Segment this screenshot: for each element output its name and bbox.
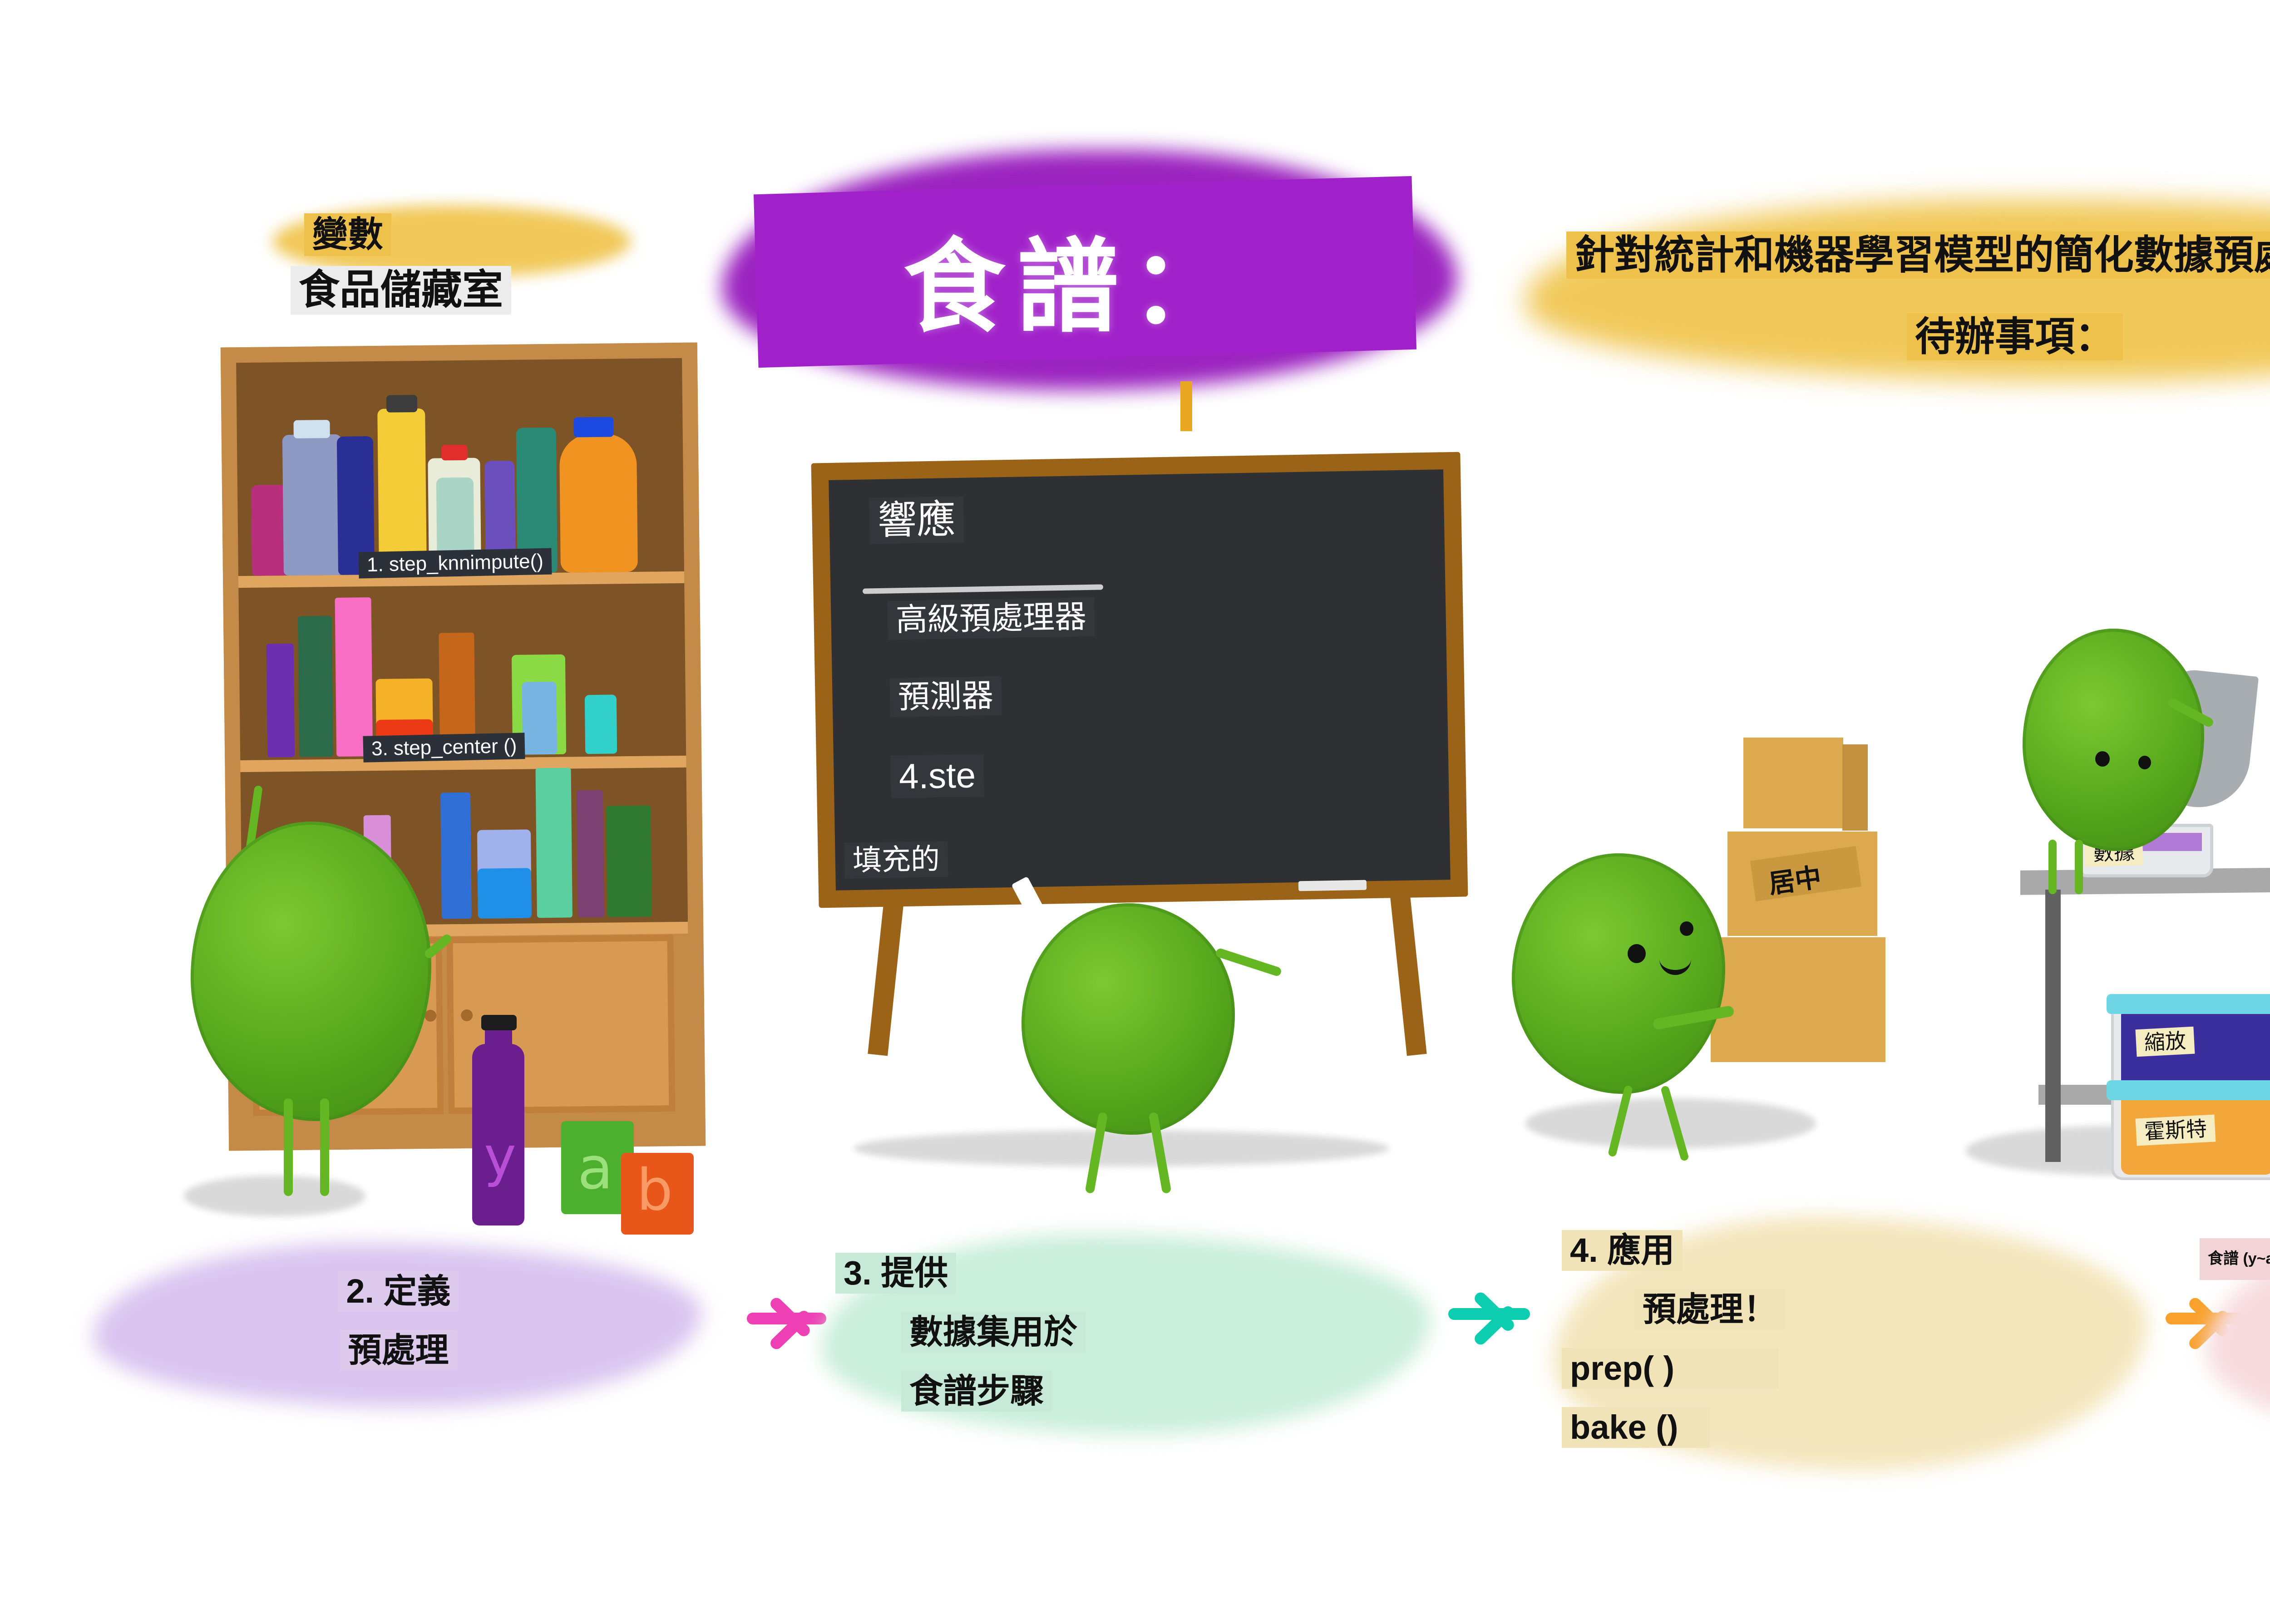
- bottle-y-letter: y: [484, 1126, 516, 1189]
- cap-lightblue: [293, 420, 330, 438]
- pantry-sign-bottom: 食品儲藏室: [291, 266, 511, 315]
- book-darkgreen: [298, 616, 333, 757]
- header-brush-stroke: [1525, 200, 2270, 381]
- tub-scale-label-text: 縮放: [2136, 1027, 2195, 1057]
- bottle-y-cap: [481, 1015, 517, 1030]
- mover-character-body: [1512, 853, 1725, 1094]
- tub-holdout-lid: [2107, 1080, 2270, 1100]
- chalk-heading-text: 響應: [869, 496, 964, 544]
- step3-line-2-text: 數據集用於: [901, 1312, 1086, 1353]
- step4-line-2: 預處理！: [1634, 1289, 1785, 1330]
- book-purple: [266, 644, 295, 758]
- pantry-character-leg-left: [284, 1098, 293, 1196]
- bottle-blue-jug: [282, 434, 343, 576]
- pantry-character-leg-right: [320, 1098, 329, 1196]
- blackboard-leg-left: [868, 891, 904, 1056]
- step5-bake-script: bake(): [2265, 1343, 2270, 1422]
- step2-line-1: 2. 定義: [116, 1271, 681, 1312]
- step4-line-1-text: 4. 應用: [1562, 1230, 1683, 1271]
- box-bottom: [1711, 937, 1885, 1062]
- chalk-line-5: 填充的: [844, 841, 948, 879]
- box-top: [1743, 738, 1843, 828]
- label-knnimpute-text: 1. step_knnimpute(): [358, 548, 552, 579]
- step4-line-3-text: prep( ): [1562, 1348, 1779, 1389]
- label-knnimpute: 1. step_knnimpute(): [358, 548, 552, 579]
- tub-holdout-label-text: 霍斯特: [2136, 1114, 2216, 1146]
- chalk-line-3-text: 預測器: [889, 676, 1002, 717]
- box-top-side: [1842, 744, 1868, 831]
- step3-line-2: 數據集用於: [901, 1312, 1086, 1353]
- chalk-line-4: 4.ste: [890, 754, 984, 798]
- book-green: [606, 806, 652, 917]
- subtitle-line-2: 待辦事項：: [1907, 313, 2123, 360]
- label-center: 3. step_center (): [363, 733, 525, 763]
- step2-line-2: 預處理: [116, 1330, 681, 1371]
- bottle-yellow: [377, 408, 427, 575]
- cabinet-knob-left[interactable]: [424, 1010, 436, 1022]
- mover-eye-right: [1680, 921, 1693, 936]
- step3-line-3: 食譜步驟: [901, 1371, 1052, 1412]
- can-b-letter: b: [637, 1156, 673, 1223]
- step3-line-1: 3. 提供: [835, 1253, 956, 1294]
- bottle-orange: [559, 433, 638, 573]
- cap-blue: [573, 417, 613, 437]
- step4-line-2-text: 預處理！: [1634, 1289, 1785, 1330]
- book-pink: [335, 597, 373, 757]
- step4-line-4: bake (): [1562, 1407, 1710, 1448]
- chalk-line-4-text: 4.ste: [890, 754, 984, 798]
- step5-line-1-text: 食譜 (y~a + b+ ... , data = pantry): [2200, 1238, 2270, 1280]
- mover-eye-left: [1628, 944, 1646, 963]
- chalk-heading: 響應: [869, 496, 964, 544]
- pantry-sign-bottom-text: 食品儲藏室: [291, 266, 511, 315]
- blackboard-leg-right: [1390, 891, 1426, 1056]
- can-blue-band: [522, 682, 558, 755]
- chalk-line-2-text: 高級預處理器: [887, 597, 1095, 640]
- box-label-center: 居中: [1766, 856, 1824, 901]
- step2-line-2-text: 預處理: [340, 1330, 457, 1371]
- pantry-sign-top: 變數: [304, 213, 391, 256]
- book-blue: [440, 792, 472, 919]
- step3-line-1-text: 3. 提供: [835, 1253, 956, 1294]
- baker-eye-left: [2095, 751, 2110, 767]
- baker-character-body: [2023, 629, 2204, 851]
- subtitle-line-1-text: 針對統計和機器學習模型的簡化數據預處理: [1566, 231, 2270, 279]
- can-cyan: [585, 694, 617, 754]
- pantry-sign-top-text: 變數: [304, 213, 391, 256]
- teacher-character-shadow: [854, 1130, 1389, 1166]
- arrow-step3-to-step4: [1448, 1280, 1544, 1348]
- cap-red: [441, 445, 468, 461]
- tub-holdout-label: 霍斯特: [2136, 1114, 2216, 1146]
- baker-leg-left: [2048, 840, 2057, 894]
- chalk-line-3: 預測器: [889, 676, 1002, 717]
- title-accent-stick: [1180, 381, 1192, 431]
- step5-line-1: 食譜 (y~a + b+ ... , data = pantry): [2200, 1238, 2270, 1280]
- can-blue-band-2: [478, 868, 532, 918]
- step4-line-3: prep( ): [1562, 1348, 1779, 1389]
- cap-black: [386, 395, 417, 413]
- chalk-line-5-text: 填充的: [844, 841, 948, 879]
- blackboard-chalk-tray: [1298, 880, 1367, 891]
- book-seafoam: [536, 768, 572, 918]
- counter-leg-1: [2045, 890, 2061, 1162]
- step4-line-4-text: bake (): [1562, 1407, 1710, 1448]
- teacher-character-body: [1021, 903, 1235, 1135]
- label-center-text: 3. step_center (): [363, 733, 525, 763]
- baker-eye-right: [2138, 756, 2151, 769]
- pantry-character-shadow: [184, 1176, 365, 1216]
- subtitle-line-2-text: 待辦事項：: [1907, 313, 2123, 360]
- tub-scale-label: 縮放: [2136, 1027, 2195, 1057]
- book-plum: [577, 790, 604, 918]
- tub-scale-lid: [2107, 994, 2270, 1014]
- baker-leg-right: [2075, 840, 2083, 894]
- cabinet-knob-right[interactable]: [461, 1009, 473, 1021]
- chalk-line-2: 高級預處理器: [887, 597, 1095, 640]
- step2-smear: [93, 1244, 701, 1407]
- step2-line-1-text: 2. 定義: [338, 1271, 459, 1312]
- can-a-letter: a: [577, 1135, 613, 1202]
- step4-line-1: 4. 應用: [1562, 1230, 1683, 1271]
- subtitle-line-1: 針對統計和機器學習模型的簡化數據預處理: [1566, 231, 2270, 279]
- step3-line-3-text: 食譜步驟: [901, 1371, 1052, 1412]
- pantry-character-body: [191, 822, 431, 1121]
- page-title: 食譜：: [903, 204, 1244, 352]
